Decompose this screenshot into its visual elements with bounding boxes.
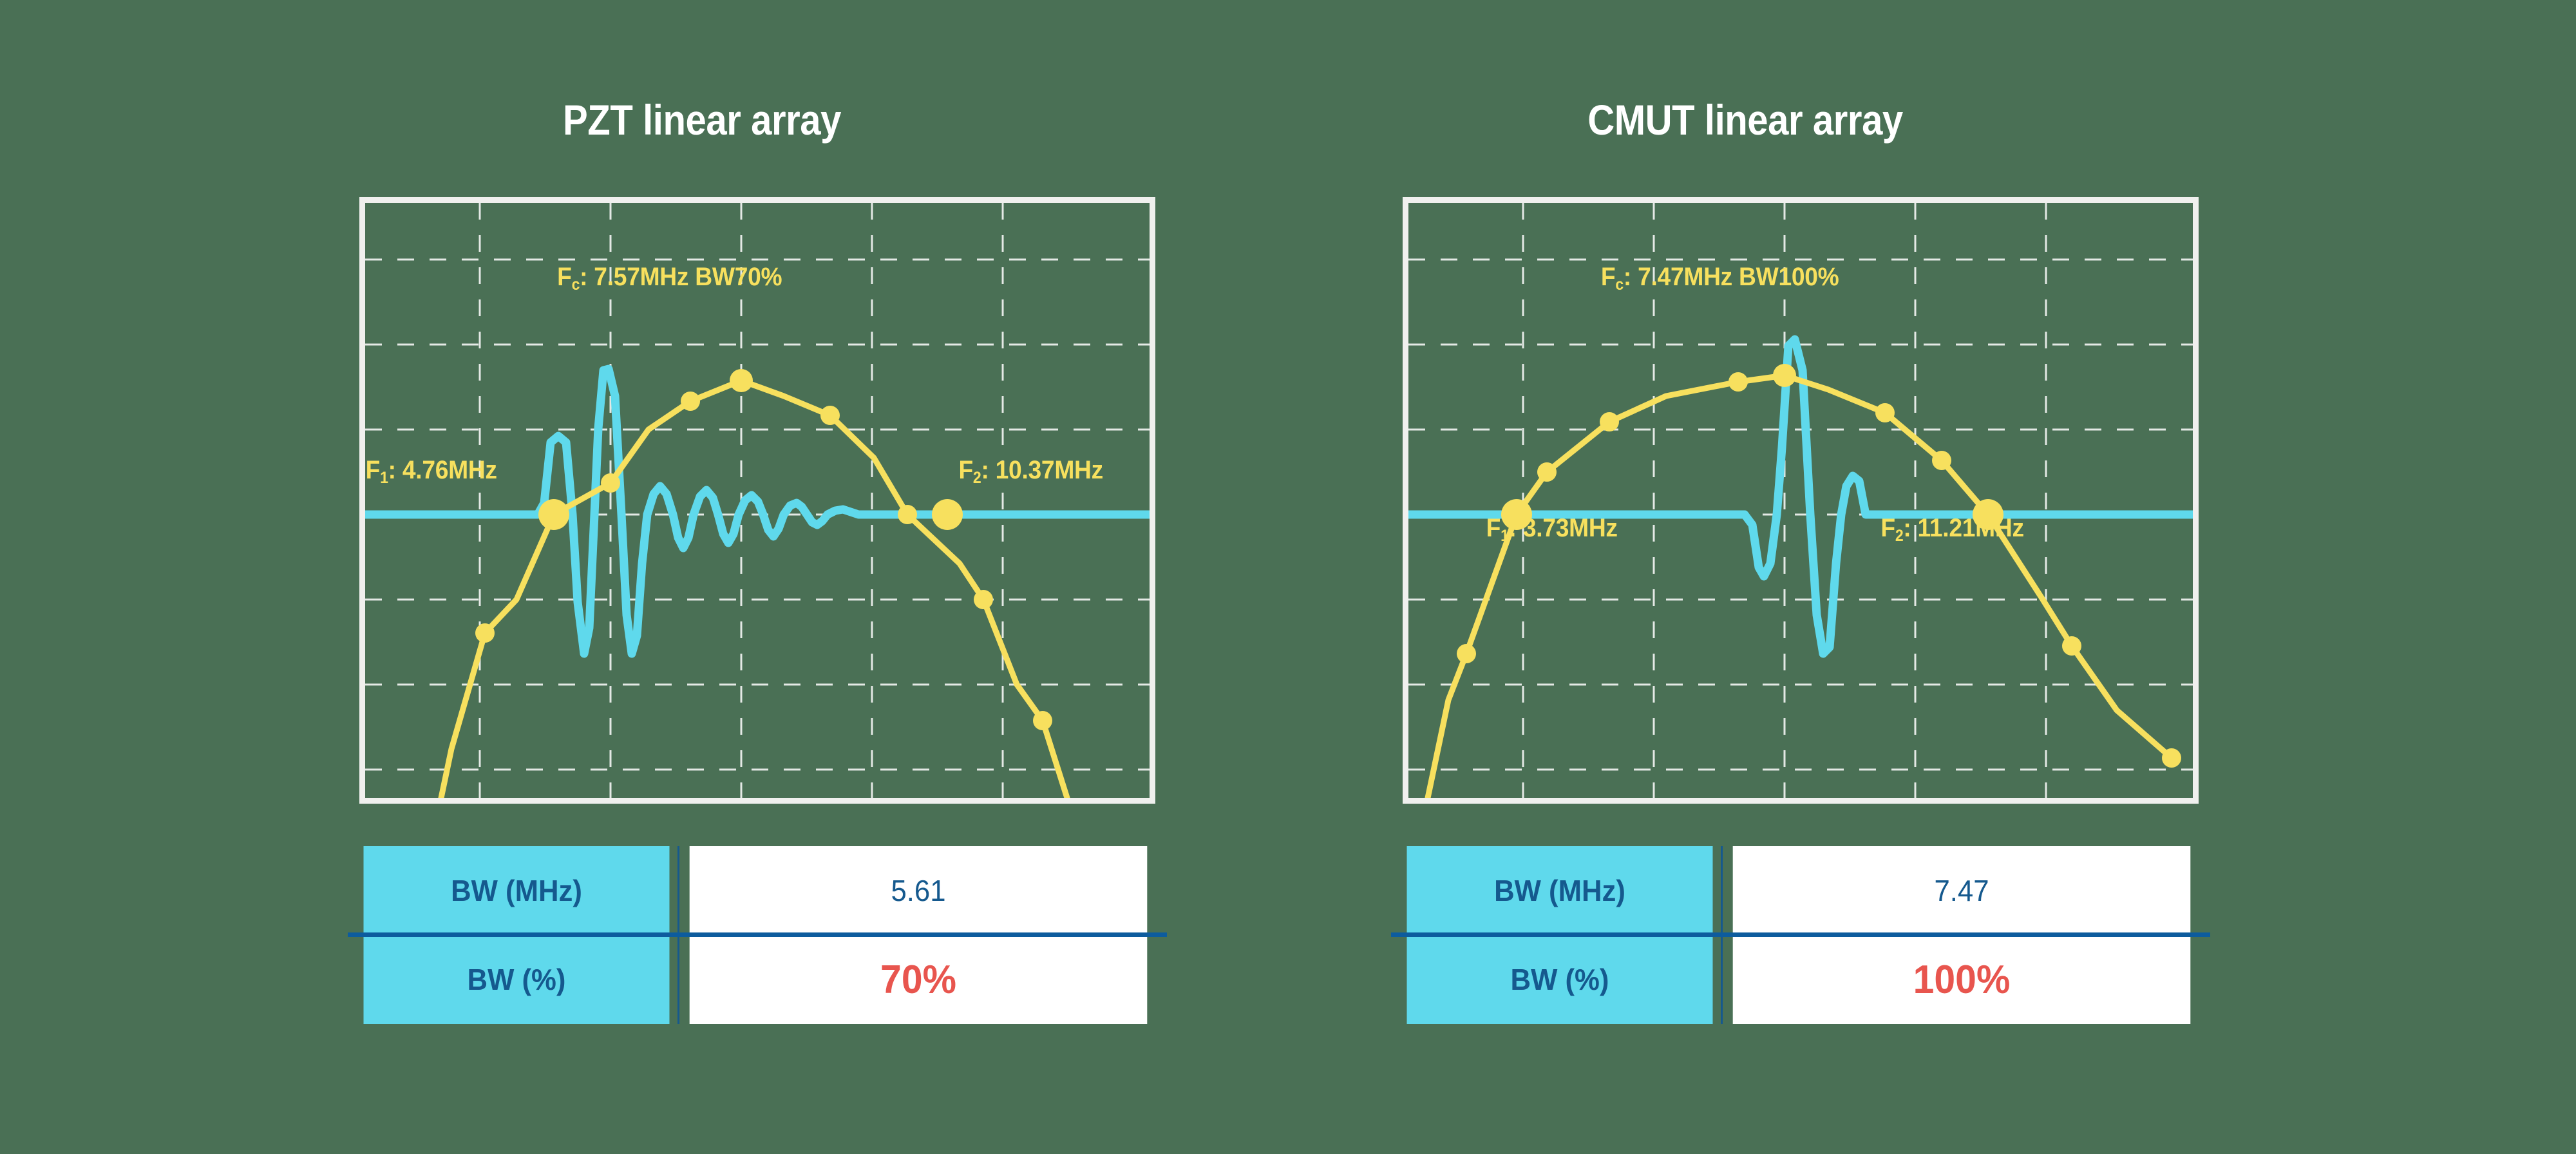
data-point bbox=[1875, 403, 1895, 422]
table-row: BW (%) 100% bbox=[1399, 935, 2202, 1024]
data-point-center bbox=[730, 369, 753, 392]
data-point bbox=[2062, 636, 2081, 656]
spectrum-markers-cmut bbox=[1457, 364, 2181, 768]
bw-table-cmut: BW (MHz) 7.47 BW (%) 100% bbox=[1399, 846, 2202, 1024]
annotation-center-prefix-pzt: F bbox=[557, 263, 571, 291]
annotation-f1-pzt: F1: 4.76MHz bbox=[366, 457, 497, 483]
data-point bbox=[820, 406, 840, 425]
annotation-f1-sub-cmut: 1 bbox=[1501, 527, 1509, 545]
table-row: BW (MHz) 5.61 bbox=[355, 846, 1159, 935]
spectrum-trace-cmut bbox=[1428, 375, 2172, 798]
spectrum-trace-pzt bbox=[441, 381, 1067, 798]
spectrum-markers-pzt bbox=[475, 369, 1052, 730]
data-point bbox=[475, 623, 495, 643]
panel-title-pzt: PZT linear array bbox=[220, 95, 1184, 144]
chart-plot-area-pzt bbox=[365, 203, 1150, 798]
table-row: BW (%) 70% bbox=[355, 935, 1159, 1024]
bw-mhz-value-pzt: 5.61 bbox=[690, 846, 1148, 935]
annotation-center-cmut: Fc: 7.47MHz BW100% bbox=[1601, 264, 1839, 290]
data-point bbox=[2162, 748, 2181, 768]
table-row: BW (MHz) 7.47 bbox=[1399, 846, 2202, 935]
bw-mhz-label-pzt: BW (MHz) bbox=[364, 846, 670, 935]
impulse-trace-pzt bbox=[365, 369, 1150, 654]
data-point-center bbox=[1773, 364, 1796, 387]
data-point-f2 bbox=[932, 499, 963, 530]
annotation-center-text-cmut: : 7.47MHz BW100% bbox=[1624, 263, 1839, 291]
bw-table-pzt: BW (MHz) 5.61 BW (%) 70% bbox=[355, 846, 1159, 1024]
bw-percent-value-cmut: 100% bbox=[1733, 935, 2191, 1024]
annotation-center-prefix-cmut: F bbox=[1601, 263, 1615, 291]
bw-mhz-label-cmut: BW (MHz) bbox=[1407, 846, 1713, 935]
bw-percent-label-cmut: BW (%) bbox=[1407, 935, 1713, 1024]
chart-svg-pzt bbox=[365, 203, 1150, 798]
data-point-f1 bbox=[538, 499, 569, 530]
annotation-f2-pzt: F2: 10.37MHz bbox=[958, 457, 1103, 483]
data-point bbox=[974, 590, 993, 609]
chart-svg-cmut bbox=[1408, 203, 2193, 798]
panel-title-cmut: CMUT linear array bbox=[1264, 95, 2227, 144]
data-point bbox=[1033, 711, 1052, 730]
annotation-center-text-pzt: : 7.57MHz BW70% bbox=[580, 263, 782, 291]
annotation-center-sub-pzt: c bbox=[572, 276, 580, 294]
table-horizontal-divider-pzt bbox=[348, 932, 1167, 937]
data-point bbox=[1932, 451, 1951, 470]
bw-percent-value-pzt: 70% bbox=[690, 935, 1148, 1024]
annotation-f2-prefix-pzt: F bbox=[958, 456, 972, 484]
annotation-f2-cmut: F2: 11.21MHz bbox=[1880, 515, 2023, 541]
annotation-f2-prefix-cmut: F bbox=[1880, 514, 1895, 542]
data-point bbox=[1457, 644, 1476, 663]
infographic-canvas: PZT linear array bbox=[0, 0, 2576, 1154]
data-point bbox=[1600, 412, 1619, 431]
annotation-f2-sub-pzt: 2 bbox=[973, 469, 981, 487]
annotation-f1-prefix-pzt: F bbox=[366, 456, 380, 484]
annotation-center-sub-cmut: c bbox=[1615, 276, 1624, 294]
annotation-f1-prefix-cmut: F bbox=[1486, 514, 1501, 542]
annotation-f2-text-cmut: : 11.21MHz bbox=[1903, 514, 2023, 542]
data-point bbox=[1728, 372, 1748, 392]
panel-pzt: PZT linear array bbox=[155, 0, 1249, 1154]
annotation-f1-sub-pzt: 1 bbox=[380, 469, 388, 487]
bw-mhz-value-cmut: 7.47 bbox=[1733, 846, 2191, 935]
annotation-f1-cmut: F1: 3.73MHz bbox=[1486, 515, 1618, 541]
bw-percent-label-pzt: BW (%) bbox=[364, 935, 670, 1024]
annotation-center-pzt: Fc: 7.57MHz BW70% bbox=[557, 264, 782, 290]
annotation-f1-text-cmut: : 3.73MHz bbox=[1509, 514, 1618, 542]
panel-cmut: CMUT linear array bbox=[1198, 0, 2293, 1154]
data-point bbox=[898, 505, 917, 524]
table-horizontal-divider-cmut bbox=[1391, 932, 2210, 937]
data-point bbox=[681, 392, 700, 411]
annotation-f2-sub-cmut: 2 bbox=[1895, 527, 1904, 545]
data-point bbox=[601, 473, 620, 493]
annotation-f1-text-pzt: : 4.76MHz bbox=[388, 456, 497, 484]
data-point bbox=[1537, 462, 1557, 482]
chart-plot-area-cmut bbox=[1408, 203, 2193, 798]
annotation-f2-text-pzt: : 10.37MHz bbox=[981, 456, 1103, 484]
